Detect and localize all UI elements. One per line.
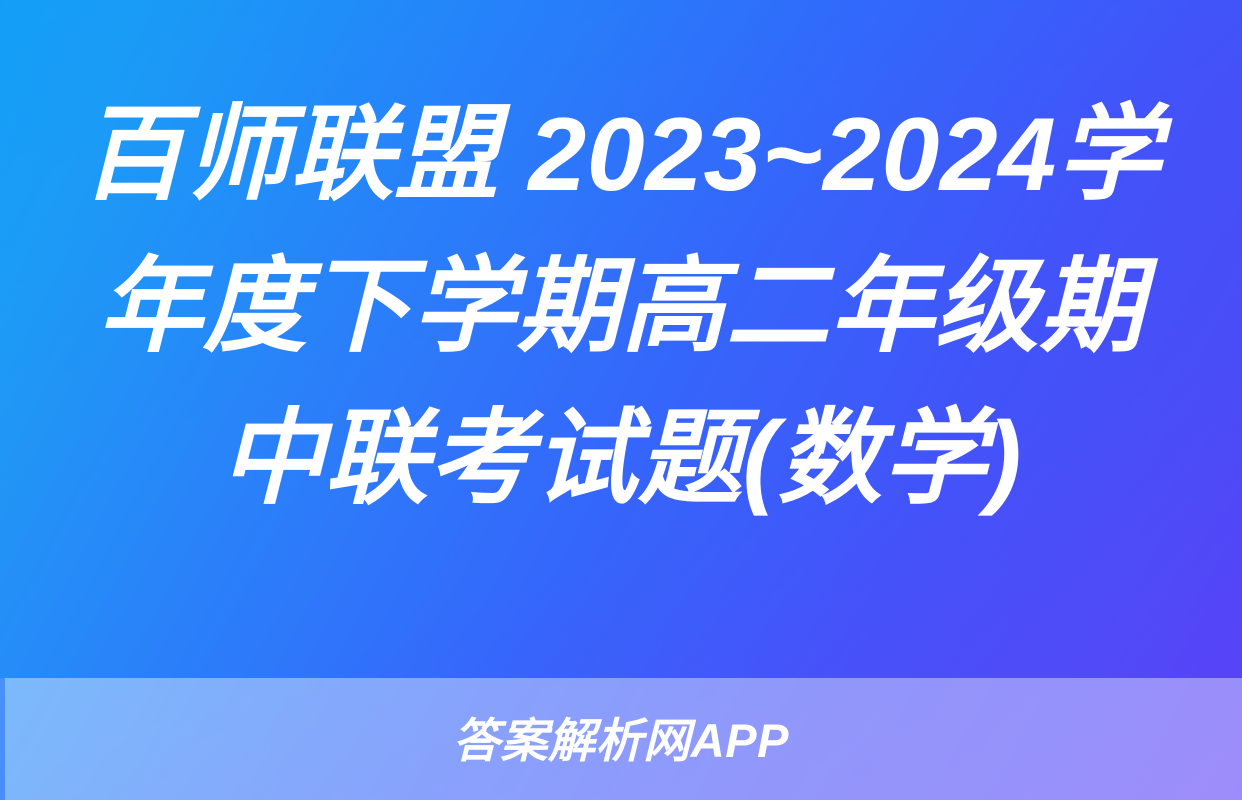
footer-left-edge-accent bbox=[0, 678, 5, 800]
app-watermark-label: 答案解析网APP bbox=[453, 717, 789, 764]
footer-watermark-band: 答案解析网APP bbox=[0, 678, 1242, 800]
exam-title: 百师联盟 2023~2024学年度下学期高二年级期中联考试题(数学) bbox=[58, 80, 1184, 535]
exam-cover-card: 百师联盟 2023~2024学年度下学期高二年级期中联考试题(数学) 答案解析网… bbox=[0, 0, 1242, 800]
title-area: 百师联盟 2023~2024学年度下学期高二年级期中联考试题(数学) bbox=[0, 0, 1242, 678]
